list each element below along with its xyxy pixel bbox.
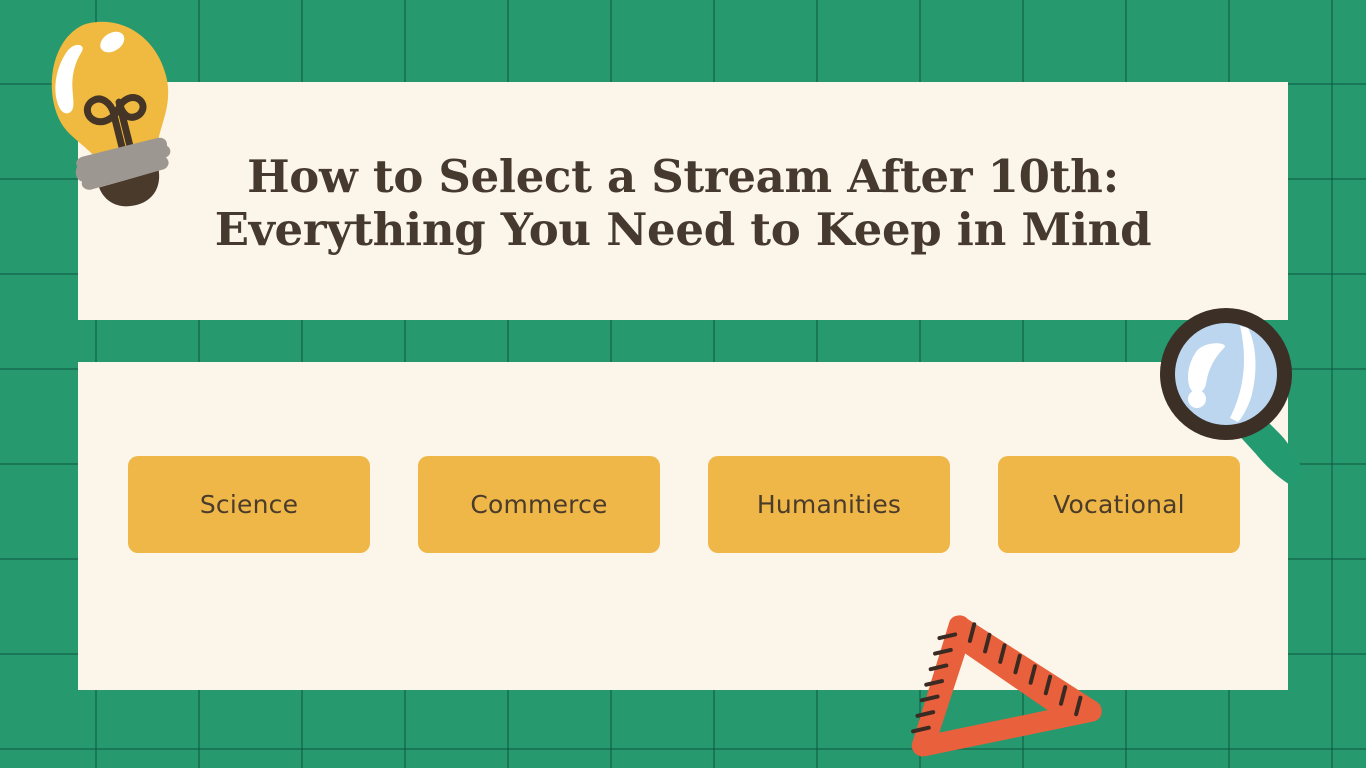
stream-option-commerce[interactable]: Commerce bbox=[418, 456, 660, 553]
stream-option-vocational[interactable]: Vocational bbox=[998, 456, 1240, 553]
slide-canvas: How to Select a Stream After 10th: Every… bbox=[0, 0, 1366, 768]
stream-option-label: Science bbox=[200, 490, 298, 519]
page-title: How to Select a Stream After 10th: Every… bbox=[78, 150, 1288, 256]
stream-option-science[interactable]: Science bbox=[128, 456, 370, 553]
stream-option-label: Humanities bbox=[757, 490, 901, 519]
stream-option-label: Vocational bbox=[1053, 490, 1185, 519]
stream-option-humanities[interactable]: Humanities bbox=[708, 456, 950, 553]
stream-option-label: Commerce bbox=[470, 490, 607, 519]
stream-options-row: Science Commerce Humanities Vocational bbox=[128, 456, 1240, 553]
